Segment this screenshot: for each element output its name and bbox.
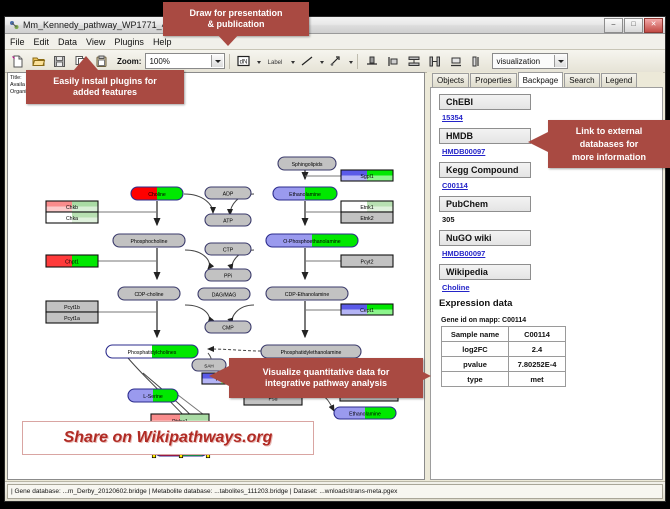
new-file-icon[interactable] bbox=[8, 52, 27, 71]
svg-text:ADP: ADP bbox=[223, 191, 234, 197]
callout-links-arrow-icon bbox=[528, 132, 548, 152]
callout-plugins-line1: Easily install plugins for bbox=[53, 76, 157, 87]
node-cdp-choline[interactable]: CDP-choline bbox=[118, 287, 180, 300]
svg-text:Label: Label bbox=[268, 60, 283, 66]
visualization-value: visualization bbox=[496, 57, 540, 66]
save-icon[interactable] bbox=[50, 52, 69, 71]
svg-text:Cept1: Cept1 bbox=[360, 308, 374, 314]
db-link-kegg[interactable]: C00114 bbox=[442, 181, 662, 190]
svg-text:Phosphatidylethanolamine: Phosphatidylethanolamine bbox=[281, 350, 342, 356]
node-choline-top[interactable]: Choline bbox=[131, 187, 183, 200]
svg-text:Pcyt1a: Pcyt1a bbox=[64, 316, 80, 322]
open-folder-icon[interactable] bbox=[29, 52, 48, 71]
svg-text:CDP-choline: CDP-choline bbox=[134, 292, 163, 298]
table-row: type met bbox=[442, 372, 566, 387]
db-title-pubchem: PubChem bbox=[439, 196, 531, 212]
expr-val-pvalue: 7.80252E-4 bbox=[509, 357, 566, 372]
svg-text:Chpt1: Chpt1 bbox=[65, 259, 79, 265]
size-equal-icon[interactable] bbox=[446, 52, 465, 71]
label-tool-icon[interactable]: Label bbox=[263, 52, 287, 71]
svg-text:Etnk2: Etnk2 bbox=[360, 216, 373, 222]
distribute-horizontal-icon[interactable] bbox=[425, 52, 444, 71]
distribute-vertical-icon[interactable] bbox=[404, 52, 423, 71]
db-section-wikipedia: Wikipedia Choline bbox=[439, 264, 662, 292]
window-titlebar: Mm_Kennedy_pathway_WP1771_45176.gpml – □… bbox=[5, 17, 665, 34]
callout-links-line3: more information bbox=[572, 151, 646, 164]
label-dropdown-icon[interactable] bbox=[289, 56, 295, 66]
node-etnk2[interactable]: Etnk2 bbox=[341, 212, 393, 223]
svg-text:Etnk1: Etnk1 bbox=[360, 205, 373, 211]
db-title-chebi: ChEBI bbox=[439, 94, 531, 110]
node-phosphocholine[interactable]: Phosphocholine bbox=[113, 234, 185, 247]
line-dropdown-icon[interactable] bbox=[318, 56, 324, 66]
menu-item-data[interactable]: Data bbox=[58, 37, 77, 47]
callout-links: Link to external databases for more info… bbox=[548, 120, 670, 168]
node-ethanolamine-top[interactable]: Ethanolamine bbox=[273, 187, 337, 200]
align-top-icon[interactable] bbox=[362, 52, 381, 71]
expr-val-type: met bbox=[509, 372, 566, 387]
tab-objects[interactable]: Objects bbox=[432, 73, 469, 87]
expr-val-sample-name: C00114 bbox=[509, 327, 566, 342]
node-o-phosphoethanolamine[interactable]: O-Phosphoethanolamine bbox=[266, 234, 358, 247]
callout-links-line1: Link to external bbox=[576, 125, 643, 138]
app-icon bbox=[9, 20, 19, 30]
tab-search[interactable]: Search bbox=[564, 73, 599, 87]
tab-properties[interactable]: Properties bbox=[470, 73, 516, 87]
node-phosphatidylcholines[interactable]: Phosphatidylcholines bbox=[106, 345, 198, 358]
tab-backpage[interactable]: Backpage bbox=[518, 72, 564, 88]
svg-text:DAG/MAG: DAG/MAG bbox=[212, 292, 237, 298]
svg-text:PPi: PPi bbox=[224, 273, 232, 279]
svg-text:Chka: Chka bbox=[66, 216, 78, 222]
callout-visualize-arrow-icon bbox=[209, 366, 229, 386]
datanode-tool-icon[interactable]: dN bbox=[234, 52, 253, 71]
table-row: log2FC 2.4 bbox=[442, 342, 566, 357]
menu-item-edit[interactable]: Edit bbox=[34, 37, 50, 47]
statusbar-text: | Gene database: ...m_Derby_20120602.bri… bbox=[7, 484, 663, 499]
svg-text:Choline: Choline bbox=[148, 192, 166, 198]
menubar: File Edit Data View Plugins Help bbox=[5, 34, 665, 50]
table-row: pvalue 7.80252E-4 bbox=[442, 357, 566, 372]
chevron-down-icon[interactable] bbox=[211, 55, 223, 67]
node-chka[interactable]: Chka bbox=[46, 212, 98, 223]
svg-text:CMP: CMP bbox=[222, 325, 234, 331]
svg-text:Pcyt1b: Pcyt1b bbox=[64, 305, 80, 311]
menu-item-file[interactable]: File bbox=[10, 37, 25, 47]
db-title-hmdb: HMDB bbox=[439, 128, 531, 144]
visualization-combo[interactable]: visualization bbox=[492, 53, 568, 69]
zoom-combo[interactable]: 100% bbox=[145, 53, 225, 69]
db-value-pubchem: 305 bbox=[442, 215, 662, 224]
callout-visualize: Visualize quantitative data for integrat… bbox=[229, 358, 423, 398]
window-controls: – □ ✕ bbox=[604, 18, 663, 33]
node-cmp[interactable]: CMP bbox=[205, 321, 251, 333]
datanode-dropdown-icon[interactable] bbox=[255, 56, 261, 66]
zoom-label: Zoom: bbox=[117, 57, 141, 66]
node-pcyt1b[interactable]: Pcyt1b bbox=[46, 301, 98, 312]
db-title-nugo: NuGO wiki bbox=[439, 230, 531, 246]
db-title-kegg: Kegg Compound bbox=[439, 162, 531, 178]
db-section-pubchem: PubChem 305 bbox=[439, 196, 662, 224]
expr-key-type: type bbox=[442, 372, 509, 387]
expression-table: Sample name C00114 log2FC 2.4 pvalue 7.8… bbox=[441, 326, 566, 387]
callout-visualize-line2: integrative pathway analysis bbox=[265, 378, 387, 389]
node-ppi[interactable]: PPi bbox=[205, 269, 251, 281]
node-phosphatidylethanolamine[interactable]: Phosphatidylethanolamine bbox=[261, 345, 361, 358]
minimize-button[interactable]: – bbox=[604, 18, 623, 33]
node-cdp-ethanolamine[interactable]: CDP-Ethanolamine bbox=[266, 287, 348, 300]
node-l-serine-left[interactable]: L-Serine bbox=[128, 389, 178, 402]
svg-text:Ethanolamine: Ethanolamine bbox=[349, 411, 381, 417]
svg-text:Ethanolamine: Ethanolamine bbox=[289, 192, 321, 198]
expr-key-pvalue: pvalue bbox=[442, 357, 509, 372]
svg-text:Sphingolipids: Sphingolipids bbox=[292, 162, 323, 168]
statusbar: | Gene database: ...m_Derby_20120602.bri… bbox=[5, 481, 665, 501]
visualization-chevron-down-icon[interactable] bbox=[554, 55, 566, 67]
toolbar-separator-2 bbox=[357, 54, 358, 69]
maximize-button[interactable]: □ bbox=[624, 18, 643, 33]
close-button[interactable]: ✕ bbox=[644, 18, 663, 33]
db-section-nugo: NuGO wiki HMDB00097 bbox=[439, 230, 662, 258]
align-left-icon[interactable] bbox=[383, 52, 402, 71]
svg-text:L-Serine: L-Serine bbox=[143, 394, 163, 400]
db-title-wikipedia: Wikipedia bbox=[439, 264, 531, 280]
table-row: Sample name C00114 bbox=[442, 327, 566, 342]
callout-draw-line1: Draw for presentation bbox=[189, 8, 282, 19]
db-section-chebi: ChEBI 15354 bbox=[439, 94, 662, 122]
node-sgpl1[interactable]: Sgpl1 bbox=[341, 170, 393, 181]
expr-key-log2fc: log2FC bbox=[442, 342, 509, 357]
svg-text:Sgpl1: Sgpl1 bbox=[360, 174, 373, 180]
gene-id-label: Gene id on mapp: C00114 bbox=[441, 317, 662, 324]
expr-val-log2fc: 2.4 bbox=[509, 342, 566, 357]
menu-item-view[interactable]: View bbox=[86, 37, 105, 47]
node-cept1[interactable]: Cept1 bbox=[341, 304, 393, 315]
node-dag-mag[interactable]: DAG/MAG bbox=[198, 288, 250, 300]
node-pcyt1a[interactable]: Pcyt1a bbox=[46, 312, 98, 323]
svg-text:Chkb: Chkb bbox=[66, 205, 78, 211]
expr-key-sample-name: Sample name bbox=[442, 327, 509, 342]
db-link-wikipedia[interactable]: Choline bbox=[442, 283, 662, 292]
tab-legend[interactable]: Legend bbox=[601, 73, 638, 87]
svg-text:Phosphocholine: Phosphocholine bbox=[131, 239, 168, 245]
toolbar-separator bbox=[229, 54, 230, 69]
callout-draw-arrow-icon bbox=[215, 32, 241, 46]
callout-share: Share on Wikipathways.org bbox=[22, 421, 314, 455]
pathway-diagram[interactable]: SphingolipidsCholineEthanolaminePhosphoc… bbox=[8, 73, 425, 480]
node-adp[interactable]: ADP bbox=[205, 187, 251, 199]
node-chkb[interactable]: Chkb bbox=[46, 201, 98, 212]
callout-links-line2: databases for bbox=[580, 138, 639, 151]
node-pcyt2[interactable]: Pcyt2 bbox=[341, 255, 393, 267]
callout-plugins-line2: added features bbox=[73, 87, 137, 98]
menu-item-help[interactable]: Help bbox=[153, 37, 172, 47]
svg-text:ATP: ATP bbox=[223, 218, 233, 224]
svg-text:dN: dN bbox=[240, 60, 248, 66]
expression-data-heading: Expression data bbox=[439, 298, 662, 309]
node-etnk1[interactable]: Etnk1 bbox=[341, 201, 393, 212]
node-atp[interactable]: ATP bbox=[205, 214, 251, 226]
receptor-dropdown-icon[interactable] bbox=[347, 56, 353, 66]
callout-visualize-arrow-right-icon bbox=[411, 366, 431, 386]
callout-draw-line2: & publication bbox=[208, 19, 265, 30]
line-tool-icon[interactable] bbox=[297, 52, 316, 71]
node-ctp[interactable]: CTP bbox=[205, 243, 251, 255]
callout-draw: Draw for presentation & publication bbox=[163, 2, 309, 36]
callout-share-text: Share on Wikipathways.org bbox=[64, 429, 273, 447]
callout-plugins: Easily install plugins for added feature… bbox=[26, 70, 184, 104]
menu-item-plugins[interactable]: Plugins bbox=[114, 37, 144, 47]
pathway-canvas[interactable]: Title: Availa Organi bbox=[7, 72, 425, 480]
callout-visualize-line1: Visualize quantitative data for bbox=[263, 367, 390, 378]
node-sphingolipids[interactable]: Sphingolipids bbox=[278, 157, 336, 170]
stack-icon[interactable] bbox=[467, 52, 486, 71]
svg-text:CTP: CTP bbox=[223, 247, 234, 253]
node-ethanolamine-bot[interactable]: Ethanolamine bbox=[334, 407, 396, 419]
svg-text:O-Phosphoethanolamine: O-Phosphoethanolamine bbox=[283, 239, 341, 245]
node-chpt1[interactable]: Chpt1 bbox=[46, 255, 98, 267]
callout-plugins-arrow-icon bbox=[74, 56, 98, 70]
db-link-nugo[interactable]: HMDB00097 bbox=[442, 249, 662, 258]
side-panel-tabs: Objects Properties Backpage Search Legen… bbox=[427, 72, 663, 87]
svg-text:Phosphatidylcholines: Phosphatidylcholines bbox=[128, 350, 177, 356]
receptor-tool-icon[interactable] bbox=[326, 52, 345, 71]
svg-text:Pcyt2: Pcyt2 bbox=[361, 259, 374, 265]
svg-text:CDP-Ethanolamine: CDP-Ethanolamine bbox=[285, 292, 330, 298]
zoom-value: 100% bbox=[149, 57, 169, 66]
